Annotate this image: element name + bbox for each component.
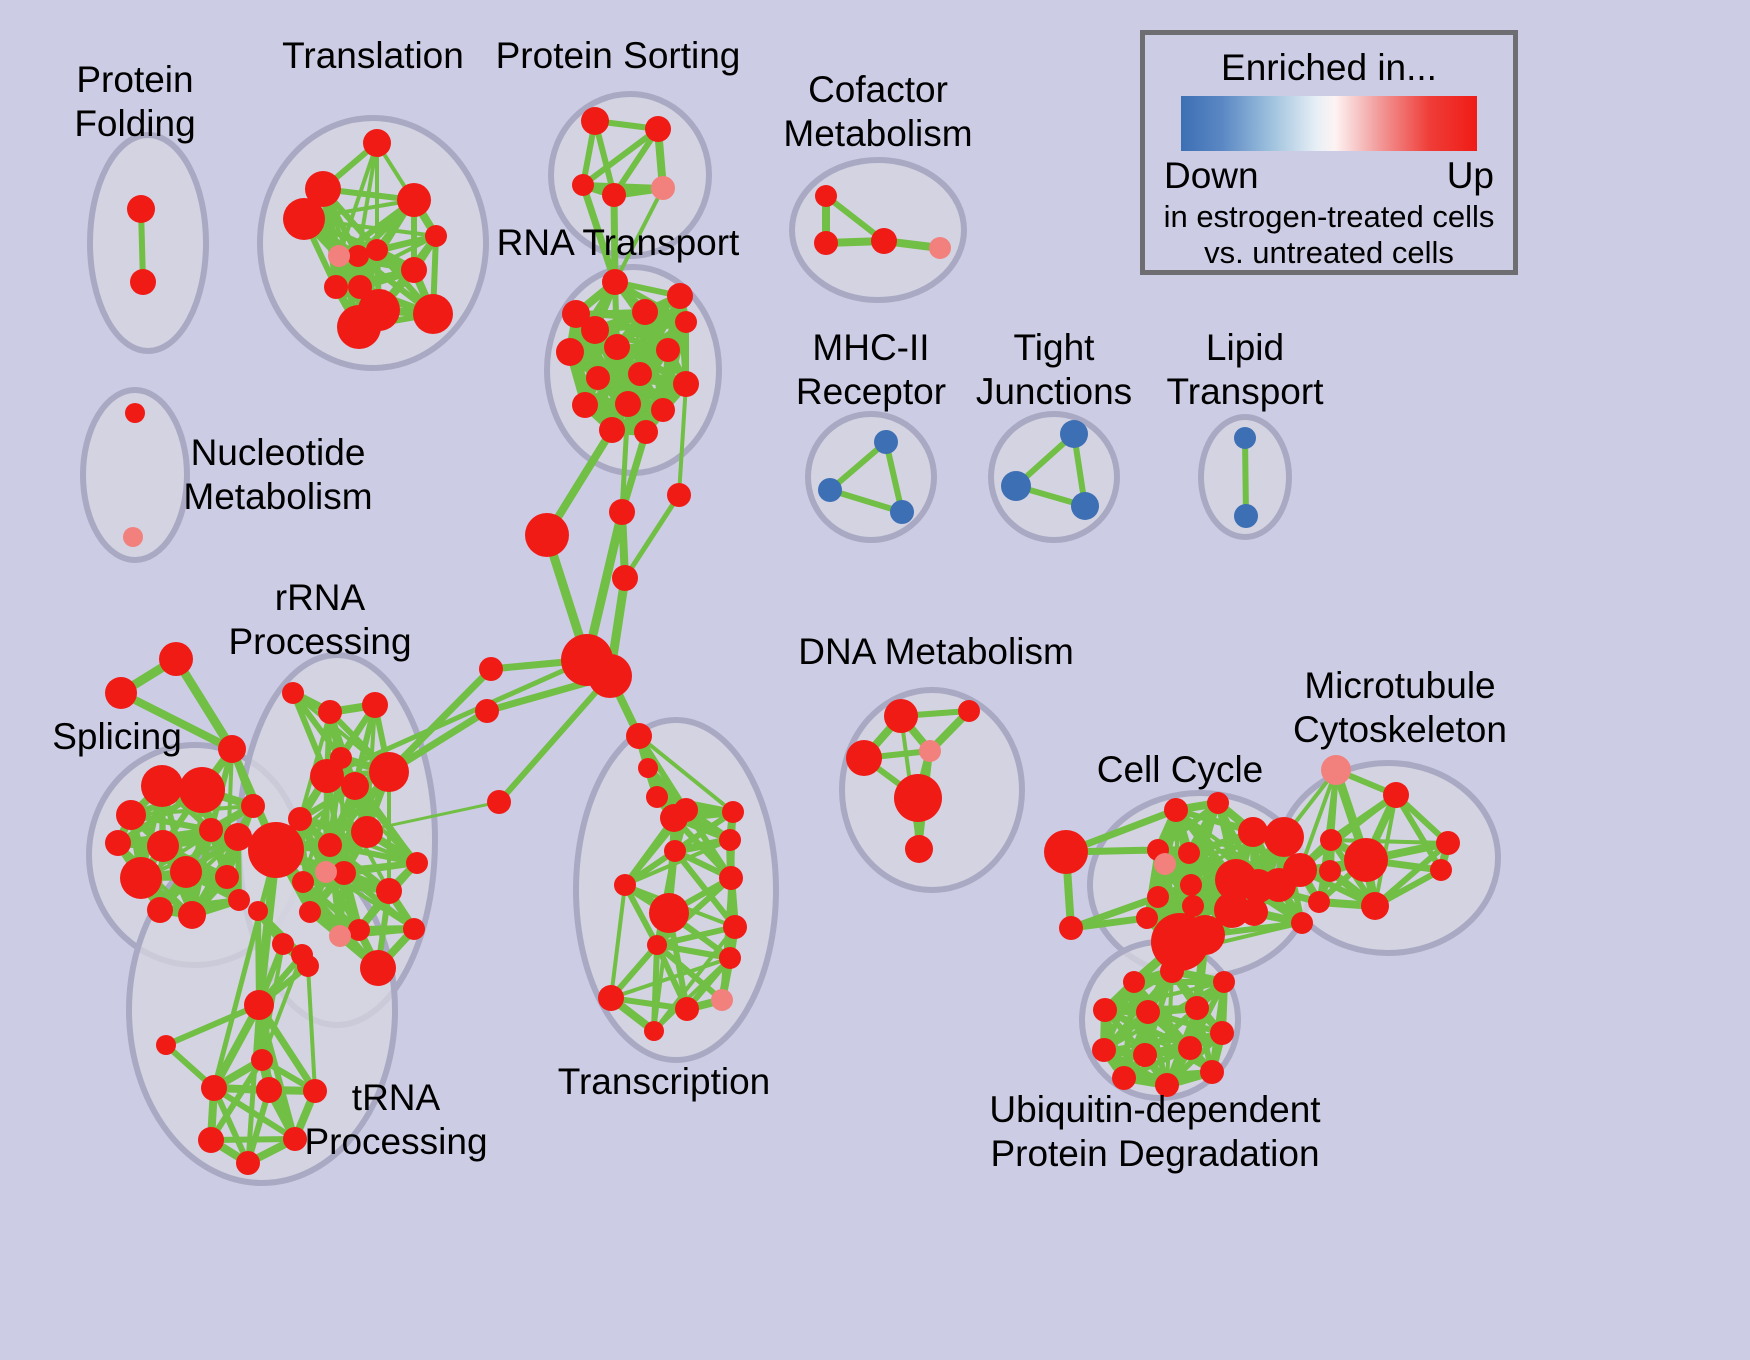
network-node [369, 752, 409, 792]
network-node [1238, 817, 1268, 847]
network-node [1264, 817, 1304, 857]
cluster-label-protein-sorting: Protein Sorting [496, 35, 741, 76]
network-node [291, 944, 313, 966]
network-node [651, 398, 675, 422]
network-node [814, 231, 838, 255]
network-node [1291, 912, 1313, 934]
network-node [337, 305, 381, 349]
network-node [228, 889, 250, 911]
network-node [479, 657, 503, 681]
network-node [1213, 971, 1235, 993]
network-node [1136, 1000, 1160, 1024]
network-node [475, 699, 499, 723]
network-node [116, 800, 146, 830]
network-node [248, 901, 268, 921]
network-node [218, 735, 246, 763]
network-node [602, 183, 626, 207]
network-node [588, 654, 632, 698]
network-node [178, 901, 206, 929]
network-node [1240, 898, 1268, 926]
network-node [351, 816, 383, 848]
network-node [673, 371, 699, 397]
network-node [1112, 1066, 1136, 1090]
network-node [604, 334, 630, 360]
network-node [362, 692, 388, 718]
network-node [632, 299, 658, 325]
network-node [241, 794, 265, 818]
network-node [598, 985, 624, 1011]
network-node [846, 740, 882, 776]
legend-low-label: Down [1164, 155, 1259, 197]
network-node [871, 228, 897, 254]
network-node [675, 997, 699, 1021]
network-node [1092, 1038, 1116, 1062]
network-node [215, 865, 239, 889]
network-node [599, 417, 625, 443]
legend-caption: in estrogen-treated cells vs. untreated … [1164, 199, 1495, 270]
network-node [612, 565, 638, 591]
network-edge [654, 945, 657, 1031]
cluster-label-dna-metabolism: DNA Metabolism [798, 631, 1074, 672]
network-node [1319, 860, 1341, 882]
network-node [586, 366, 610, 390]
network-node [719, 866, 743, 890]
network-node [664, 840, 686, 862]
network-node [123, 527, 143, 547]
network-node [159, 642, 193, 676]
network-node [170, 856, 202, 888]
network-node [244, 990, 274, 1020]
network-node [1178, 842, 1200, 864]
network-node [723, 915, 747, 939]
network-node [1093, 998, 1117, 1022]
network-node [318, 700, 342, 724]
network-node [363, 129, 391, 157]
network-node [634, 420, 658, 444]
network-node [130, 269, 156, 295]
network-node [667, 483, 691, 507]
network-node [647, 935, 667, 955]
network-node [224, 823, 252, 851]
network-node [1133, 1043, 1157, 1067]
network-node [315, 861, 337, 883]
network-node [179, 767, 225, 813]
cluster-ellipse-mhc-ii [808, 414, 934, 540]
network-node [1308, 891, 1330, 913]
network-node [147, 830, 179, 862]
network-node [651, 176, 675, 200]
network-node [199, 818, 223, 842]
network-node [201, 1075, 227, 1101]
network-node [890, 500, 914, 524]
network-node [525, 513, 569, 557]
network-node [1430, 859, 1452, 881]
network-node [818, 478, 842, 502]
legend-endpoints: Down Up [1164, 155, 1494, 197]
network-node [649, 893, 689, 933]
network-node [318, 833, 342, 857]
network-node [556, 338, 584, 366]
network-node [105, 830, 131, 856]
network-node [120, 857, 162, 899]
network-node [406, 852, 428, 874]
network-node [413, 294, 453, 334]
network-node [602, 269, 628, 295]
network-node [1001, 471, 1031, 501]
network-node [1180, 874, 1202, 896]
network-node [581, 107, 609, 135]
network-node [1210, 1021, 1234, 1045]
network-node [1168, 940, 1192, 964]
network-node [256, 1077, 282, 1103]
network-node [1344, 838, 1388, 882]
network-node [722, 801, 744, 823]
network-node [1234, 427, 1256, 449]
network-node [425, 225, 447, 247]
network-node [341, 772, 369, 800]
network-node [919, 740, 941, 762]
network-node [1060, 420, 1088, 448]
cluster-label-translation: Translation [282, 35, 464, 76]
network-node [303, 1079, 327, 1103]
network-node [251, 1049, 273, 1071]
network-node [1436, 831, 1460, 855]
network-node [1059, 916, 1083, 940]
legend: Enriched in... Down Up in estrogen-treat… [1140, 30, 1518, 275]
network-node [667, 283, 693, 309]
network-node [1321, 755, 1351, 785]
network-node [1044, 830, 1088, 874]
cluster-label-rna-transport: RNA Transport [497, 222, 740, 263]
network-node [282, 682, 304, 704]
network-node [1361, 892, 1389, 920]
network-node [299, 901, 321, 923]
network-node [147, 897, 173, 923]
network-node [626, 723, 652, 749]
network-node [156, 1035, 176, 1055]
network-node [905, 835, 933, 863]
network-node [1178, 1036, 1202, 1060]
network-node [1164, 798, 1188, 822]
legend-color-bar [1181, 96, 1477, 152]
network-node [644, 1021, 664, 1041]
network-node [1200, 1060, 1224, 1084]
network-node [283, 198, 325, 240]
network-node [1234, 504, 1258, 528]
legend-title: Enriched in... [1221, 49, 1437, 88]
network-node [1154, 853, 1176, 875]
network-node [815, 185, 837, 207]
network-node [645, 116, 671, 142]
network-node [348, 919, 370, 941]
network-node [1136, 907, 1158, 929]
network-node [614, 874, 636, 896]
network-node [674, 798, 698, 822]
network-node [348, 275, 372, 299]
network-node [609, 499, 635, 525]
legend-caption-line1: in estrogen-treated cells [1164, 199, 1495, 234]
network-node [236, 1151, 260, 1175]
network-node [1123, 971, 1145, 993]
network-node [628, 362, 652, 386]
network-node [397, 183, 431, 217]
network-node [487, 790, 511, 814]
network-node [1320, 829, 1342, 851]
network-node [292, 871, 314, 893]
network-node [403, 918, 425, 940]
network-node [719, 829, 741, 851]
network-node [283, 1127, 307, 1151]
legend-caption-line2: vs. untreated cells [1164, 235, 1495, 270]
network-node [329, 925, 351, 947]
cluster-label-splicing: Splicing [52, 716, 182, 757]
cluster-label-cell-cycle: Cell Cycle [1097, 749, 1264, 790]
network-node [401, 257, 427, 283]
network-node [248, 822, 304, 878]
network-node [272, 933, 294, 955]
network-node [719, 947, 741, 969]
network-node [656, 338, 680, 362]
network-node [874, 430, 898, 454]
network-node [198, 1127, 224, 1153]
network-node [1383, 782, 1409, 808]
network-node [646, 786, 668, 808]
network-node [324, 275, 348, 299]
network-node [125, 403, 145, 423]
network-node [347, 245, 369, 267]
network-node [328, 245, 350, 267]
network-node [1262, 868, 1296, 902]
network-node [1071, 492, 1099, 520]
network-node [884, 699, 918, 733]
cluster-ellipse-protein-folding [90, 135, 206, 351]
legend-high-label: Up [1447, 155, 1494, 197]
network-node [360, 950, 396, 986]
network-node [127, 195, 155, 223]
network-node [675, 311, 697, 333]
network-node [615, 391, 641, 417]
network-node [330, 747, 352, 769]
network-node [1185, 996, 1209, 1020]
network-node [1147, 886, 1169, 908]
network-node [958, 700, 980, 722]
network-node [366, 239, 388, 261]
network-node [581, 316, 609, 344]
network-node [1207, 792, 1229, 814]
network-node [572, 174, 594, 196]
network-node [894, 774, 942, 822]
network-node [376, 878, 402, 904]
network-node [711, 989, 733, 1011]
network-node [572, 392, 598, 418]
cluster-label-transcription: Transcription [558, 1061, 770, 1102]
network-node [929, 237, 951, 259]
network-node [105, 677, 137, 709]
network-node [141, 765, 183, 807]
network-node [638, 758, 658, 778]
